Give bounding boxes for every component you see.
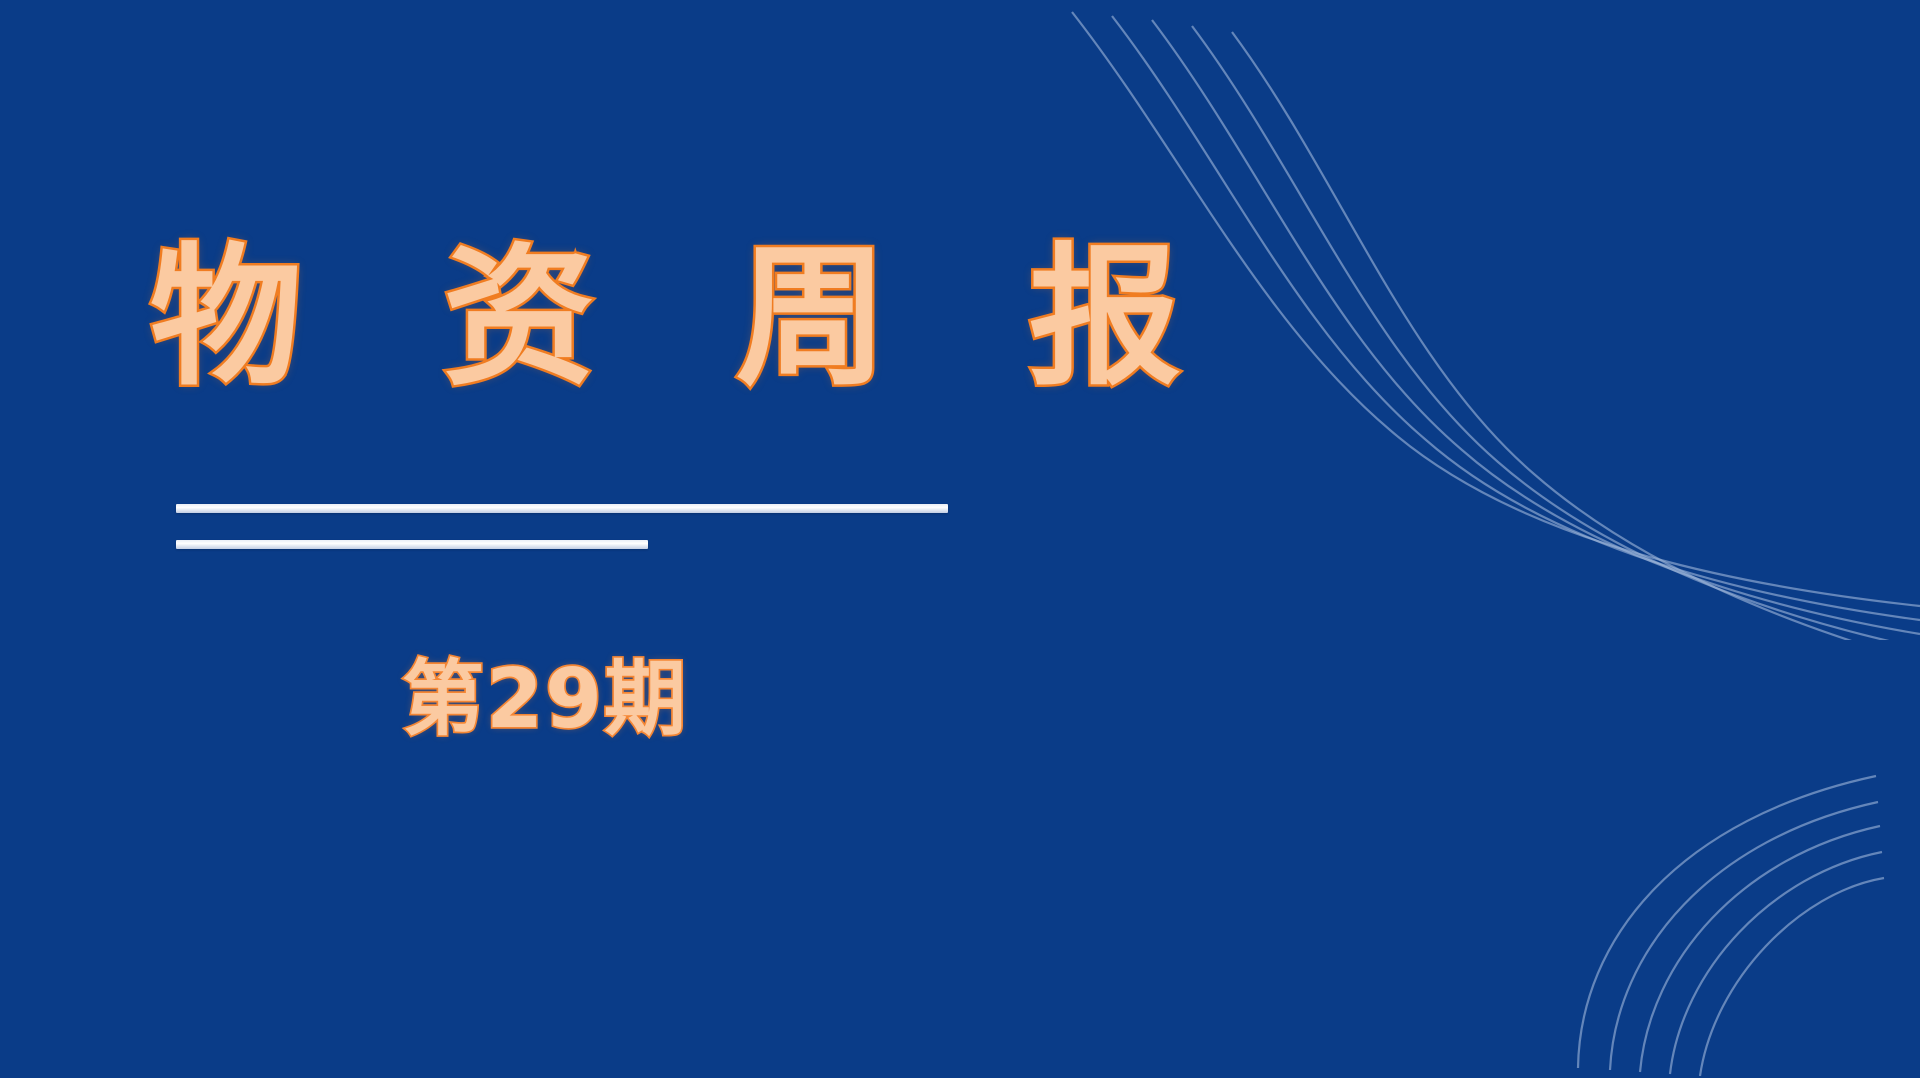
page-title: 物 资 周 报 xyxy=(150,236,1050,400)
deco-curve-br-4 xyxy=(1670,852,1882,1074)
issue-subtitle: 第29期 xyxy=(0,655,1090,745)
deco-curve-br-1 xyxy=(1578,776,1876,1068)
bottom-right-curves-decoration xyxy=(1280,598,1920,1078)
title-underline-group xyxy=(176,504,936,549)
deco-curve-tr-2 xyxy=(1112,16,1920,620)
deco-curve-br-3 xyxy=(1640,826,1880,1072)
title-underline-primary xyxy=(176,504,948,513)
slide-canvas: 物 资 周 报 第29期 xyxy=(0,0,1920,1078)
deco-curve-tr-3 xyxy=(1152,20,1920,634)
deco-curve-tr-4 xyxy=(1192,26,1920,640)
title-underline-secondary xyxy=(176,540,648,549)
deco-curve-br-2 xyxy=(1610,802,1878,1070)
deco-curve-br-5 xyxy=(1700,878,1884,1076)
title-block: 物 资 周 报 xyxy=(150,236,1050,400)
deco-curve-tr-5 xyxy=(1232,32,1920,640)
